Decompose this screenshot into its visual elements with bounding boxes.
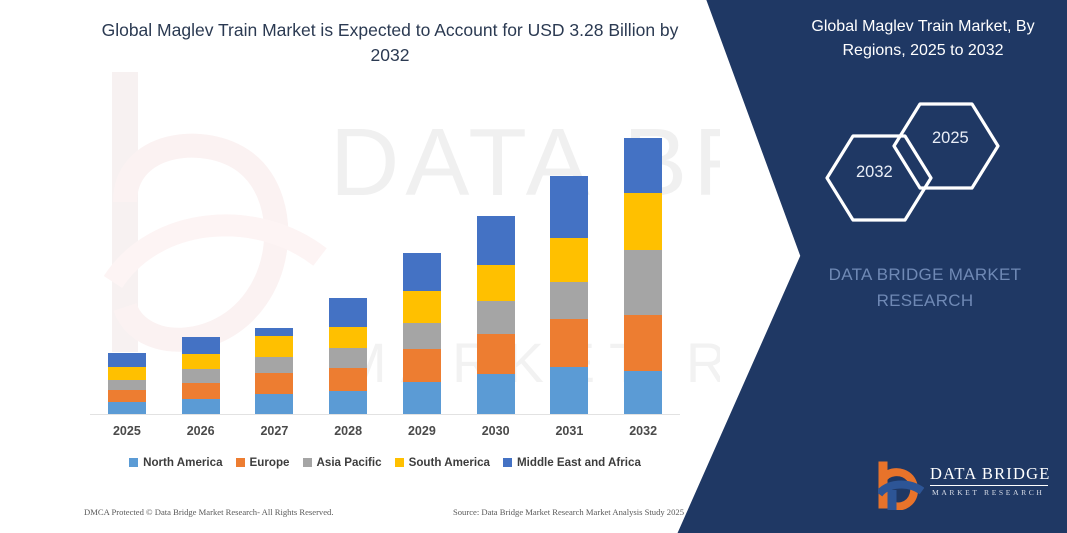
- footer-copyright: DMCA Protected © Data Bridge Market Rese…: [84, 507, 334, 517]
- bar-segment: [182, 337, 220, 355]
- bar-segment: [255, 394, 293, 415]
- bar-segment: [182, 354, 220, 369]
- bar-segment: [182, 383, 220, 399]
- x-axis-tick-label: 2029: [392, 424, 452, 438]
- bar-segment: [550, 282, 588, 319]
- x-axis-tick-label: 2028: [318, 424, 378, 438]
- bar-segment: [255, 336, 293, 357]
- brand-logo-title: DATA BRIDGE: [930, 464, 1051, 484]
- legend-item[interactable]: Europe: [236, 456, 290, 469]
- x-axis-tick-label: 2025: [97, 424, 157, 438]
- bar-segment: [329, 348, 367, 367]
- chart-plot-area: [90, 100, 680, 415]
- bar-segment: [329, 368, 367, 392]
- legend-swatch-icon: [503, 458, 512, 467]
- legend-label: Middle East and Africa: [517, 456, 641, 469]
- bar-segment: [550, 176, 588, 238]
- bar-column: [477, 216, 515, 415]
- bar-segment: [255, 328, 293, 336]
- bar-segment: [329, 327, 367, 348]
- bar-segment: [108, 380, 146, 390]
- legend-swatch-icon: [395, 458, 404, 467]
- bar-column: [182, 337, 220, 415]
- bar-column: [329, 298, 367, 415]
- legend-item[interactable]: North America: [129, 456, 222, 469]
- hexagon-pair-icon: [815, 100, 1035, 225]
- x-axis-tick-label: 2026: [171, 424, 231, 438]
- bar-column: [624, 138, 662, 415]
- panel-title: Global Maglev Train Market, By Regions, …: [778, 15, 1067, 63]
- x-axis-line: [90, 414, 680, 415]
- x-axis-tick-label: 2030: [466, 424, 526, 438]
- bar-segment: [329, 298, 367, 327]
- legend-item[interactable]: Middle East and Africa: [503, 456, 641, 469]
- bar-segment: [403, 253, 441, 291]
- bar-segment: [624, 138, 662, 193]
- x-axis-labels: 20252026202720282029203020312032: [90, 424, 680, 438]
- bar-segment: [403, 291, 441, 323]
- bar-segment: [108, 353, 146, 367]
- bar-column: [255, 328, 293, 415]
- legend-item[interactable]: Asia Pacific: [303, 456, 382, 469]
- brand-block-text: DATA BRIDGE MARKET RESEARCH: [790, 262, 1060, 315]
- bar-segment: [182, 399, 220, 415]
- legend-swatch-icon: [303, 458, 312, 467]
- bar-group: [90, 103, 680, 415]
- infographic-root: DATA BRIDGE MARKET RESEARCH Global Magle…: [0, 0, 1067, 533]
- legend-label: Asia Pacific: [317, 456, 382, 469]
- page-title: Global Maglev Train Market is Expected t…: [90, 18, 690, 69]
- bar-segment: [477, 216, 515, 265]
- legend-item[interactable]: South America: [395, 456, 490, 469]
- bar-segment: [255, 357, 293, 373]
- data-bridge-b-icon: [878, 460, 924, 510]
- brand-logo-underline: [930, 485, 1048, 486]
- footer-source: Source: Data Bridge Market Research Mark…: [453, 507, 684, 517]
- x-axis-tick-label: 2027: [244, 424, 304, 438]
- bar-segment: [477, 334, 515, 375]
- bar-segment: [550, 367, 588, 415]
- bar-segment: [403, 349, 441, 382]
- brand-logo: DATA BRIDGE MARKET RESEARCH: [878, 458, 1053, 510]
- bar-segment: [403, 382, 441, 415]
- bar-segment: [108, 390, 146, 403]
- bar-segment: [624, 250, 662, 315]
- footer: DMCA Protected © Data Bridge Market Rese…: [84, 507, 684, 517]
- legend-label: Europe: [250, 456, 290, 469]
- bar-segment: [477, 374, 515, 415]
- bar-segment: [624, 315, 662, 371]
- bar-segment: [477, 265, 515, 301]
- bar-column: [108, 353, 146, 415]
- bar-segment: [550, 319, 588, 367]
- chart-legend: North AmericaEuropeAsia PacificSouth Ame…: [90, 456, 680, 469]
- legend-swatch-icon: [129, 458, 138, 467]
- legend-swatch-icon: [236, 458, 245, 467]
- x-axis-tick-label: 2031: [539, 424, 599, 438]
- hexagon-years-graphic: 2025 2032: [815, 100, 1035, 225]
- bar-column: [403, 253, 441, 415]
- bar-column: [550, 176, 588, 415]
- bar-segment: [624, 193, 662, 250]
- bar-segment: [550, 238, 588, 282]
- bar-segment: [182, 369, 220, 383]
- bar-segment: [108, 367, 146, 380]
- hex-label-2025: 2025: [932, 129, 969, 148]
- legend-label: South America: [409, 456, 490, 469]
- brand-logo-subtitle: MARKET RESEARCH: [932, 488, 1045, 497]
- hex-label-2032: 2032: [856, 163, 893, 182]
- x-axis-tick-label: 2032: [613, 424, 673, 438]
- bar-segment: [255, 373, 293, 394]
- bar-segment: [403, 323, 441, 349]
- bar-segment: [624, 371, 662, 415]
- legend-label: North America: [143, 456, 222, 469]
- bar-segment: [329, 391, 367, 415]
- bar-segment: [477, 301, 515, 334]
